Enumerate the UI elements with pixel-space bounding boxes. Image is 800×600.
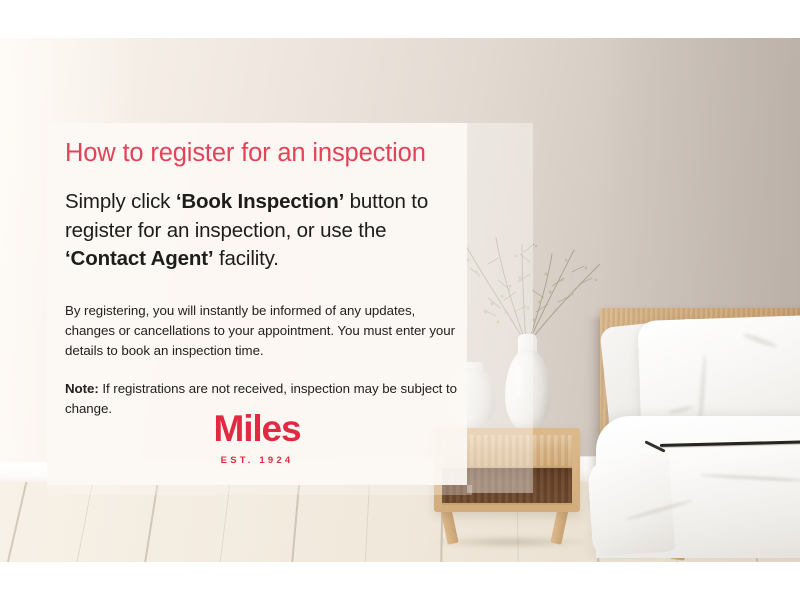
logo-established-text: EST. 1924: [47, 456, 467, 466]
lead-emphasis-contact-agent: ‘Contact Agent’: [65, 247, 213, 270]
lead-emphasis-book-inspection: ‘Book Inspection’: [176, 190, 344, 213]
lead-instruction: Simply click ‘Book Inspection’ button to…: [65, 188, 460, 274]
note-label: Note:: [65, 381, 99, 396]
duvet-fold: [587, 453, 676, 556]
overlay-panel-translucent-edge: [467, 123, 533, 493]
miles-logo: Miles EST. 1924: [47, 410, 467, 466]
overlay-panel-translucent-bottom: [47, 485, 472, 495]
panel-content: How to register for an inspection Simply…: [65, 130, 460, 419]
bedroom-photo: How to register for an inspection Simply…: [0, 38, 800, 562]
lead-part-3: facility.: [213, 247, 278, 270]
lead-part-1: Simply click: [65, 190, 176, 213]
logo-wordmark: Miles: [47, 410, 467, 447]
screenshot-canvas: How to register for an inspection Simply…: [0, 0, 800, 600]
body-paragraph-registering: By registering, you will instantly be in…: [65, 301, 460, 362]
page-title: How to register for an inspection: [65, 130, 460, 170]
